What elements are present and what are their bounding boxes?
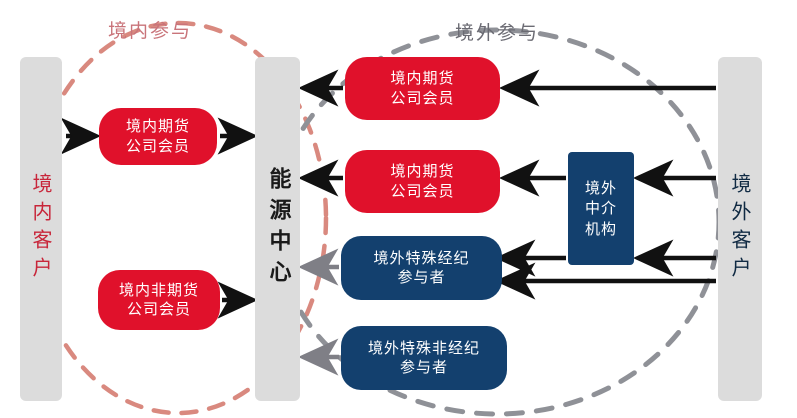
node-overseas-intermediary[interactable]: 境外 中介 机构	[568, 152, 634, 265]
node-domestic-futures-member-1-label: 境内期货 公司会员	[126, 117, 190, 156]
node-overseas-special-broker-participant[interactable]: 境外特殊经纪 参与者	[341, 236, 502, 300]
node-overseas-special-broker-participant-label: 境外特殊经纪 参与者	[373, 249, 469, 288]
pillar-domestic-customer-label: 境内客户	[31, 173, 51, 285]
node-domestic-nonfutures-member[interactable]: 境内非期货 公司会员	[98, 270, 220, 330]
node-domestic-nonfutures-member-label: 境内非期货 公司会员	[119, 281, 199, 320]
label-overseas-participation: 境外参与	[455, 18, 539, 45]
node-overseas-intermediary-label: 境外 中介 机构	[585, 178, 617, 239]
node-domestic-futures-member-1[interactable]: 境内期货 公司会员	[99, 108, 217, 165]
diagram-canvas: 境内客户 能源中心 境外客户 境内期货 公司会员 境内非期货 公司会员 境内期货…	[0, 0, 797, 418]
node-domestic-futures-member-3-label: 境内期货 公司会员	[390, 162, 454, 201]
pillar-energy-center[interactable]: 能源中心	[255, 57, 300, 401]
pillar-energy-center-label: 能源中心	[267, 167, 289, 291]
node-domestic-futures-member-3[interactable]: 境内期货 公司会员	[345, 150, 500, 213]
node-overseas-special-nonbroker-participant[interactable]: 境外特殊非经纪 参与者	[341, 326, 507, 390]
pillar-overseas-customer[interactable]: 境外客户	[718, 57, 762, 401]
node-domestic-futures-member-2-label: 境内期货 公司会员	[390, 69, 454, 108]
node-overseas-special-nonbroker-participant-label: 境外特殊非经纪 参与者	[368, 339, 480, 378]
pillar-overseas-customer-label: 境外客户	[730, 173, 750, 285]
pillar-domestic-customer[interactable]: 境内客户	[20, 57, 62, 401]
label-domestic-participation: 境内参与	[108, 16, 192, 43]
node-domestic-futures-member-2[interactable]: 境内期货 公司会员	[345, 57, 500, 120]
